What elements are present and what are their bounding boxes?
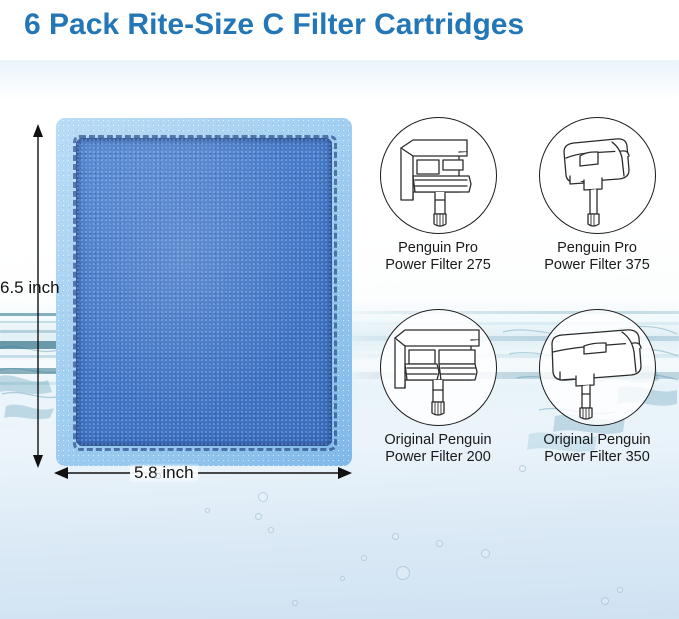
compatibility-item-penguin-pro-375[interactable]: Penguin Pro Power Filter 375	[528, 117, 666, 273]
bubble-decor	[340, 576, 345, 581]
compatibility-item-original-penguin-350[interactable]: Original Penguin Power Filter 350	[528, 309, 666, 465]
compatibility-label-line2: Power Filter 200	[369, 449, 507, 466]
compatibility-label-line2: Power Filter 375	[528, 257, 666, 274]
bubble-decor	[255, 513, 262, 520]
power-filter-275-icon	[381, 118, 496, 233]
compatibility-circle	[380, 309, 497, 426]
bubble-decor	[392, 533, 399, 540]
bubble-decor	[258, 492, 268, 502]
compatibility-label: Penguin Pro Power Filter 375	[528, 240, 666, 273]
bubble-decor	[268, 527, 274, 533]
bubble-decor	[361, 555, 367, 561]
cartridge-stitched-seam	[73, 135, 337, 451]
compatibility-item-original-penguin-200[interactable]: Original Penguin Power Filter 200	[369, 309, 507, 465]
compatibility-item-penguin-pro-275[interactable]: Penguin Pro Power Filter 275	[369, 117, 507, 273]
bubble-decor	[436, 540, 443, 547]
width-dimension-label: 5.8 inch	[130, 463, 198, 483]
bubble-decor	[601, 597, 609, 605]
compatibility-label-line1: Original Penguin	[369, 432, 507, 449]
bubble-decor	[205, 508, 210, 513]
power-filter-350-icon	[540, 310, 655, 425]
compatibility-circle	[380, 117, 497, 234]
compatibility-label-line1: Penguin Pro	[528, 240, 666, 257]
bubble-decor	[617, 587, 623, 593]
compatibility-label: Penguin Pro Power Filter 275	[369, 240, 507, 273]
bubble-decor	[396, 566, 410, 580]
compatibility-label-line1: Original Penguin	[528, 432, 666, 449]
compatibility-label: Original Penguin Power Filter 350	[528, 432, 666, 465]
width-dimension-arrow	[54, 464, 352, 482]
product-infographic: 6 Pack Rite-Size C Filter Cartridges 6.5…	[0, 0, 679, 619]
power-filter-200-icon	[381, 310, 496, 425]
power-filter-375-icon	[540, 118, 655, 233]
compatibility-label: Original Penguin Power Filter 200	[369, 432, 507, 465]
compatibility-circle	[539, 117, 656, 234]
page-title: 6 Pack Rite-Size C Filter Cartridges	[24, 8, 524, 42]
bubble-decor	[292, 600, 298, 606]
compatibility-label-line2: Power Filter 275	[369, 257, 507, 274]
height-dimension-label: 6.5 inch	[0, 278, 90, 298]
compatibility-circle	[539, 309, 656, 426]
compatibility-label-line1: Penguin Pro	[369, 240, 507, 257]
bubble-decor	[519, 465, 526, 472]
compatibility-label-line2: Power Filter 350	[528, 449, 666, 466]
bubble-decor	[481, 549, 490, 558]
water-haze-decor	[0, 60, 679, 100]
filter-cartridge-image	[56, 118, 352, 466]
